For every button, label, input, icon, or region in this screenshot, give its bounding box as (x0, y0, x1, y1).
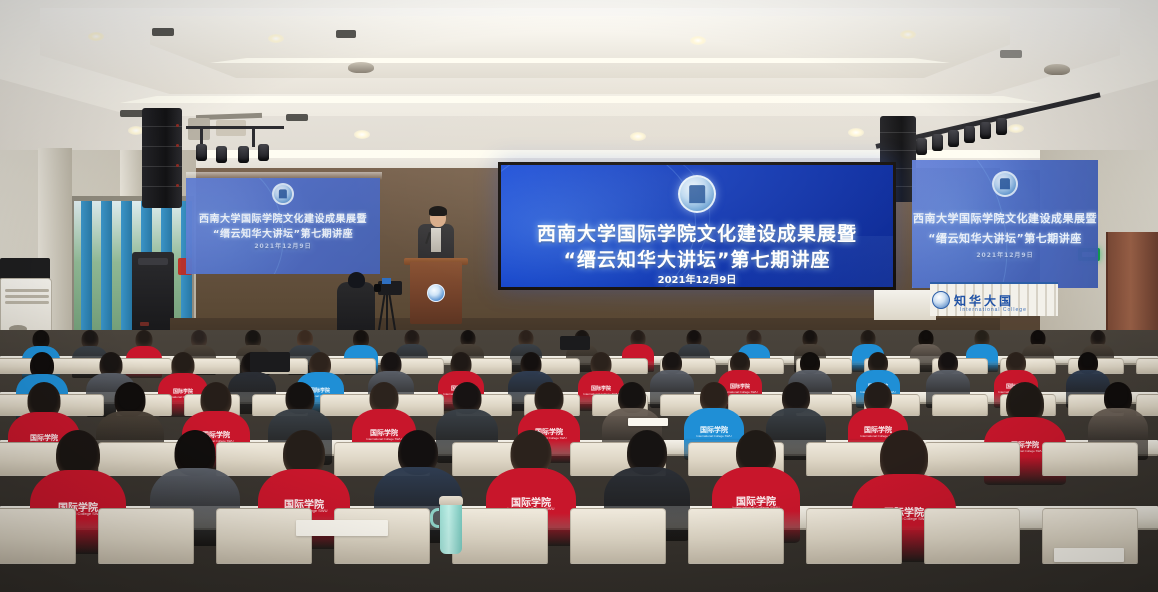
ceiling-cove-inner (150, 16, 1010, 78)
seat-back (932, 394, 988, 416)
banner-subtext: International College (960, 307, 1027, 313)
camera-operator-head (348, 272, 365, 288)
swu-emblem-icon (427, 284, 445, 302)
side-table (874, 290, 936, 320)
seat-back (806, 508, 902, 564)
stage-light-icon (948, 130, 959, 147)
downlight-icon (1008, 124, 1024, 133)
ceiling-vent (1000, 50, 1022, 58)
bottle-cap (439, 496, 463, 505)
right-projection-screen: 西南大学国际学院文化建设成果展暨 “缙云知华大讲坛”第七期讲座 2021年12月… (912, 160, 1098, 288)
downlight-icon (848, 128, 864, 137)
truss-drop (252, 129, 255, 147)
stage-light-icon (916, 138, 927, 155)
ceiling-vent (286, 114, 308, 121)
stage-light-icon (196, 144, 207, 161)
left-screen-line2: “缙云知华大讲坛”第七期讲座 (186, 225, 380, 240)
swu-emblem-icon (272, 183, 294, 205)
podium (410, 262, 462, 324)
swu-emblem-icon (932, 291, 950, 309)
laptop (560, 336, 590, 350)
seat-back (334, 508, 430, 564)
downlight-icon (354, 130, 370, 139)
ceiling-vent (336, 30, 356, 38)
left-screen-date: 2021年12月9日 (186, 241, 380, 250)
paper-sheet (296, 520, 388, 536)
downlight-icon (630, 132, 646, 141)
cove-light-strip-inner (210, 58, 950, 63)
main-screen-date: 2021年12月9日 (501, 271, 893, 286)
ceiling-speaker-icon (1044, 64, 1070, 75)
seat-back (1136, 358, 1158, 374)
camera-viewfinder-screen (382, 278, 391, 284)
wall-display-panel (0, 258, 50, 280)
water-bottle (440, 502, 462, 554)
downlight-icon (88, 32, 104, 41)
lecture-hall-photo: 西南大学国际学院文化建设成果展暨 “缙云知华大讲坛”第七期讲座 2021年12月… (0, 0, 1158, 592)
projector-unit (188, 118, 210, 140)
seat-back (688, 508, 784, 564)
paper-sheet (1054, 548, 1124, 562)
stage-light-icon (258, 144, 269, 161)
ceiling-vent (120, 110, 144, 117)
stage-light-icon (238, 146, 249, 163)
ceiling-vent (152, 28, 174, 36)
downlight-icon (900, 30, 916, 39)
swu-emblem-icon (678, 175, 716, 213)
stage-light-icon (980, 122, 991, 139)
laptop (250, 352, 290, 372)
line-array-speaker-left (142, 108, 182, 208)
ceiling-speaker-icon (348, 62, 374, 73)
main-led-screen: 西南大学国际学院文化建设成果展暨 “缙云知华大讲坛”第七期讲座 2021年12月… (498, 162, 896, 290)
paper-sheet (628, 418, 668, 426)
stage-light-icon (996, 118, 1007, 135)
presenter-hair (429, 206, 447, 216)
right-screen-line2: “缙云知华大讲坛”第七期讲座 (912, 230, 1098, 246)
downlight-icon (268, 34, 284, 43)
right-screen-date: 2021年12月9日 (912, 250, 1098, 259)
stage-light-icon (216, 146, 227, 163)
left-projection-screen: 西南大学国际学院文化建设成果展暨 “缙云知华大讲坛”第七期讲座 2021年12月… (186, 178, 380, 274)
stage-light-icon (932, 134, 943, 151)
seat-back (1042, 442, 1138, 476)
downlight-icon (690, 36, 706, 45)
wall-banner: 知华大国 International College (930, 282, 1058, 316)
cove-light-strip-middle (120, 96, 1040, 103)
seat-back (98, 508, 194, 564)
camera-lens-icon (374, 284, 381, 292)
seat-back (570, 508, 666, 564)
seat-back (216, 508, 312, 564)
stage-light-icon (964, 126, 975, 143)
main-screen-line2: “缙云知华大讲坛”第七期讲座 (501, 245, 893, 272)
seat-back (924, 508, 1020, 564)
bottle-handle (430, 508, 439, 528)
swu-emblem-icon (992, 171, 1018, 197)
main-screen-line1: 西南大学国际学院文化建设成果展暨 (501, 219, 893, 246)
seat-back (0, 508, 76, 564)
left-screen-line1: 西南大学国际学院文化建设成果展暨 (186, 210, 380, 225)
right-screen-line1: 西南大学国际学院文化建设成果展暨 (912, 210, 1098, 226)
seat-back (452, 508, 548, 564)
